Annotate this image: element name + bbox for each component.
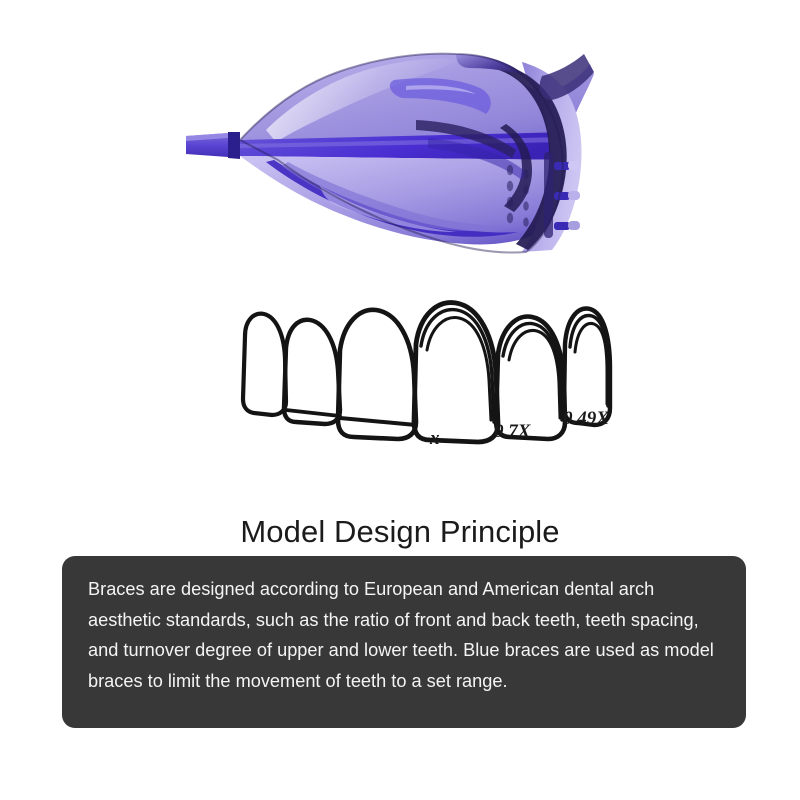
tooth-gap-1-2 — [286, 410, 340, 416]
tooth-gap-2-3 — [340, 418, 416, 425]
ratio-label-0-7x: 0.7X — [494, 421, 530, 443]
tooth-outline-4-x — [414, 303, 498, 442]
page-title: Model Design Principle — [0, 514, 800, 550]
tooth-outline-1 — [243, 314, 286, 415]
description-text: Braces are designed according to Europea… — [88, 574, 720, 696]
description-panel: Braces are designed according to Europea… — [62, 556, 746, 728]
brace-illustration — [170, 20, 610, 285]
pull-tab-icon — [186, 132, 240, 159]
ratio-label-x: x — [430, 428, 440, 450]
tooth-outline-2 — [284, 320, 340, 424]
tooth-outline-6-inner-a — [570, 316, 608, 406]
teeth-outline-drawing — [228, 292, 628, 457]
tooth-outline-6-inner-b — [575, 323, 607, 404]
teeth-diagram — [228, 292, 628, 457]
ratio-label-0-49x: 0.49X — [563, 408, 609, 430]
brace-top-hook — [540, 54, 594, 100]
product-photo — [170, 20, 610, 285]
